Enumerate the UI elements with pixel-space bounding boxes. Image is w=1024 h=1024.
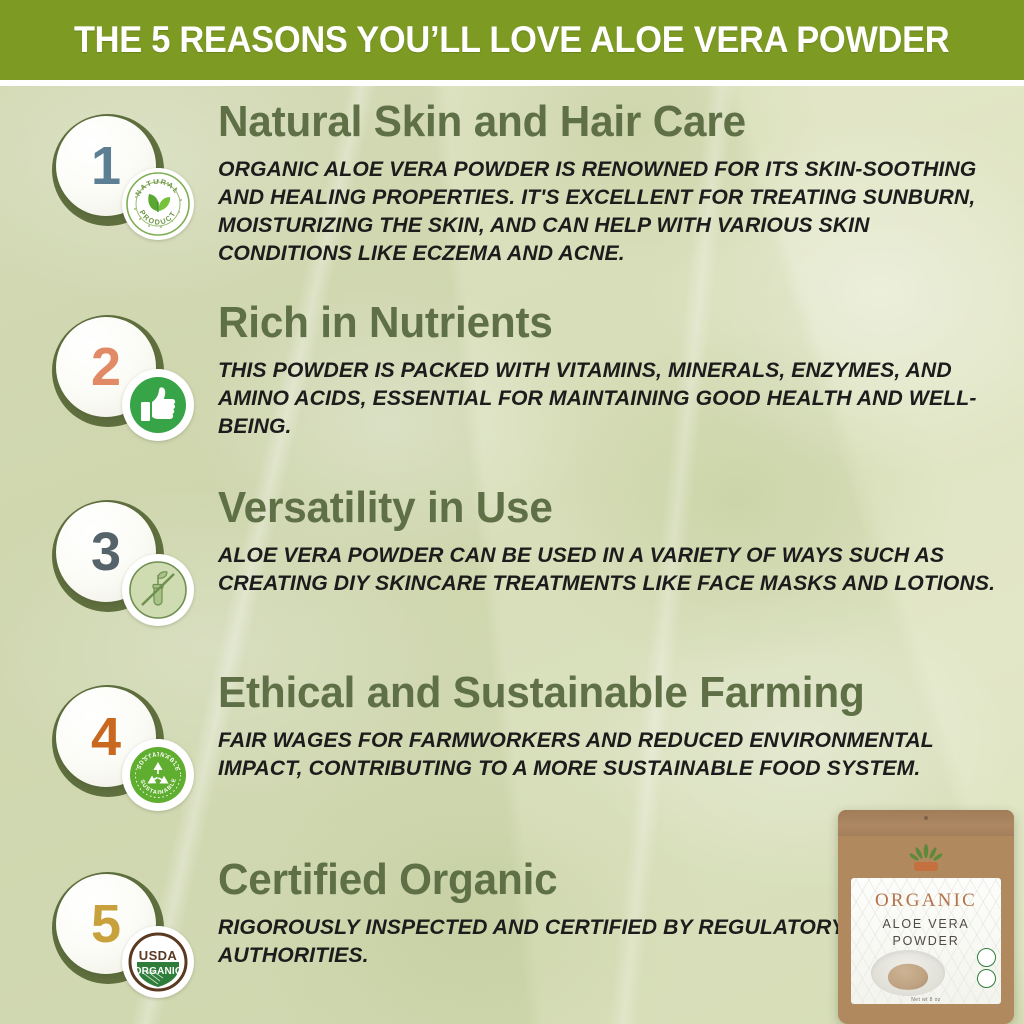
reason-title-3: Versatility in Use xyxy=(218,486,976,530)
number-label-1: 1 xyxy=(91,139,121,193)
number-label-2: 2 xyxy=(91,340,121,394)
number-badge-3: 3 xyxy=(40,486,200,616)
reason-text-4: Ethical and Sustainable Farming FAIR WAG… xyxy=(218,671,1008,783)
number-label-4: 4 xyxy=(91,710,121,764)
pouch-zipper-top xyxy=(838,810,1014,836)
pouch-front-label: ORGANIC ALOE VERA POWDER Net wt 8 oz xyxy=(851,878,1001,1004)
svg-text:USDA: USDA xyxy=(139,948,178,963)
reason-title-1: Natural Skin and Hair Care xyxy=(218,100,976,144)
leaf-logo-icon xyxy=(905,842,947,876)
reason-text-2: Rich in Nutrients THIS POWDER IS PACKED … xyxy=(218,301,1008,441)
sustainable-recycle-badge-icon: SUSTAINABLE SUSTAINABLE xyxy=(122,739,194,811)
pouch-body: ORGANIC ALOE VERA POWDER Net wt 8 oz xyxy=(838,810,1014,1024)
pouch-net-weight: Net wt 8 oz xyxy=(851,997,1001,1003)
number-label-5: 5 xyxy=(91,897,121,951)
reason-text-1: Natural Skin and Hair Care ORGANIC ALOE … xyxy=(218,100,1008,268)
no-gmo-plant-tube-icon xyxy=(122,554,194,626)
pouch-label-organic: ORGANIC xyxy=(851,890,1001,912)
non-gmo-cert-icon xyxy=(977,948,996,967)
reason-text-3: Versatility in Use ALOE VERA POWDER CAN … xyxy=(218,486,1008,598)
usda-organic-badge-icon: USDA ORGANIC xyxy=(122,926,194,998)
pouch-label-line2: POWDER xyxy=(892,934,959,948)
page-title: THE 5 REASONS YOU’LL LOVE ALOE VERA POWD… xyxy=(74,19,949,61)
thumbs-up-icon xyxy=(122,369,194,441)
reason-title-2: Rich in Nutrients xyxy=(218,301,976,345)
reason-body-2: THIS POWDER IS PACKED WITH VITAMINS, MIN… xyxy=(218,357,996,441)
natural-product-leaf-badge-icon: NATURAL PRODUCT xyxy=(122,168,194,240)
organic-cert-icon xyxy=(977,969,996,988)
number-badge-2: 2 xyxy=(40,301,200,431)
number-badge-4: 4 SUSTAINABLE xyxy=(40,671,200,801)
reason-title-4: Ethical and Sustainable Farming xyxy=(218,671,976,715)
powder-bowl-image xyxy=(871,950,945,996)
pouch-label-line1: ALOE VERA xyxy=(882,917,969,931)
reason-body-4: FAIR WAGES FOR FARMWORKERS AND REDUCED E… xyxy=(218,727,996,783)
number-label-3: 3 xyxy=(91,525,121,579)
pouch-label-product-name: ALOE VERA POWDER xyxy=(851,916,1001,950)
product-pouch: ORGANIC ALOE VERA POWDER Net wt 8 oz xyxy=(838,810,1014,1024)
infographic-page: THE 5 REASONS YOU’LL LOVE ALOE VERA POWD… xyxy=(0,0,1024,1024)
number-badge-5: 5 USDA ORGANIC xyxy=(40,858,200,988)
header-bar: THE 5 REASONS YOU’LL LOVE ALOE VERA POWD… xyxy=(0,0,1024,80)
reason-body-1: ORGANIC ALOE VERA POWDER IS RENOWNED FOR… xyxy=(218,156,996,268)
pouch-cert-badges xyxy=(977,948,996,988)
svg-text:ORGANIC: ORGANIC xyxy=(134,966,183,977)
reason-body-3: ALOE VERA POWDER CAN BE USED IN A VARIET… xyxy=(218,542,996,598)
number-badge-1: 1 xyxy=(40,100,200,230)
